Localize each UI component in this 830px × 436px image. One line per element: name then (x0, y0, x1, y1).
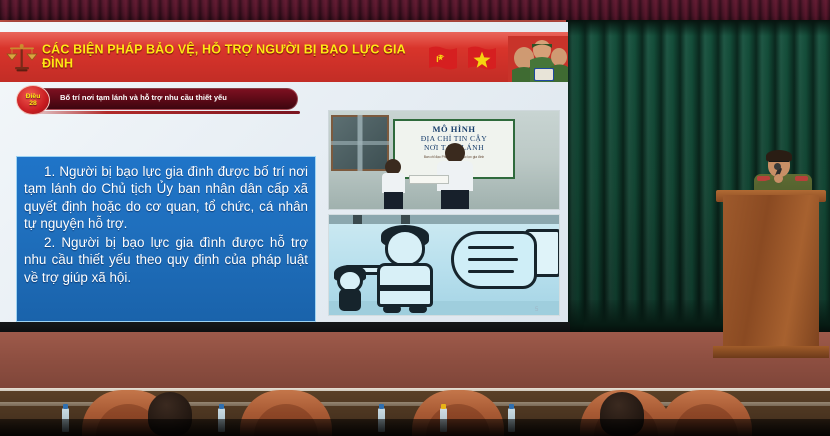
speaker-epaulet-right (795, 176, 808, 181)
article-heading: Bố trí nơi tạm lánh và hỗ trợ nhu cầu th… (10, 85, 300, 115)
cartoon-man-head (385, 229, 425, 267)
slide-header-banner: CÁC BIỆN PHÁP BẢO VỆ, HỖ TRỢ NGƯỜI BỊ BẠ… (0, 32, 568, 82)
cartoon-bar-block-1 (353, 215, 362, 224)
cartoon-bar-block-2 (401, 215, 410, 224)
slide-paragraph-1: 1. Người bị bạo lực gia đình được bố trí… (24, 163, 308, 233)
article-label: Điều (26, 93, 41, 100)
slide-photo-sign-handover: MÔ HÌNH ĐỊA CHỈ TIN CẬY NƠI TẠM LÁNH Ban… (328, 110, 560, 210)
sign-line-1: MÔ HÌNH (433, 124, 476, 134)
cartoon-man-foot-right (409, 305, 427, 313)
article-underline (24, 111, 300, 114)
cartoon-floor (329, 301, 560, 316)
microphone-head-icon (774, 163, 781, 170)
slide-cartoon-illustration (328, 214, 560, 316)
speaker-hand (774, 174, 783, 183)
foreground-shadow (0, 419, 830, 436)
article-number: 28 (29, 100, 37, 107)
slide-page-number: 5 (535, 307, 538, 313)
curtain-top-shadow (566, 20, 830, 36)
cartoon-fist-icon (451, 231, 537, 289)
photo-person-left (381, 159, 407, 210)
stage-floor (0, 332, 830, 392)
podium (723, 195, 819, 355)
cartoon-man-belt (377, 285, 433, 291)
banner-title: CÁC BIỆN PHÁP BẢO VỆ, HỖ TRỢ NGƯỜI BỊ BẠ… (42, 43, 422, 71)
cartoon-man-foot-left (383, 305, 401, 313)
sign-line-2: ĐỊA CHỈ TIN CẬY (421, 134, 487, 143)
flags-icon (428, 45, 506, 75)
slide-body-textbox: 1. Người bị bạo lực gia đình được bố trí… (16, 156, 316, 322)
banner-soldiers-photo (508, 36, 568, 82)
presentation-hall-scene: CÁC BIỆN PHÁP BẢO VỆ, HỖ TRỢ NGƯỜI BỊ BẠ… (0, 0, 830, 436)
photo-handover-paper (409, 175, 449, 184)
scales-of-justice-icon (5, 41, 39, 75)
slide-paragraph-2: 2. Người bị bạo lực gia đình được hỗ trợ… (24, 234, 308, 286)
podium-base (713, 346, 829, 358)
cartoon-child-body (339, 289, 361, 311)
article-subtitle: Bố trí nơi tạm lánh và hỗ trợ nhu cầu th… (60, 94, 292, 102)
projection-screen: CÁC BIỆN PHÁP BẢO VỆ, HỖ TRỢ NGƯỜI BỊ BẠ… (0, 22, 568, 325)
cartoon-top-bar (329, 215, 560, 224)
presentation-slide: CÁC BIỆN PHÁP BẢO VỆ, HỖ TRỢ NGƯỜI BỊ BẠ… (0, 22, 568, 325)
